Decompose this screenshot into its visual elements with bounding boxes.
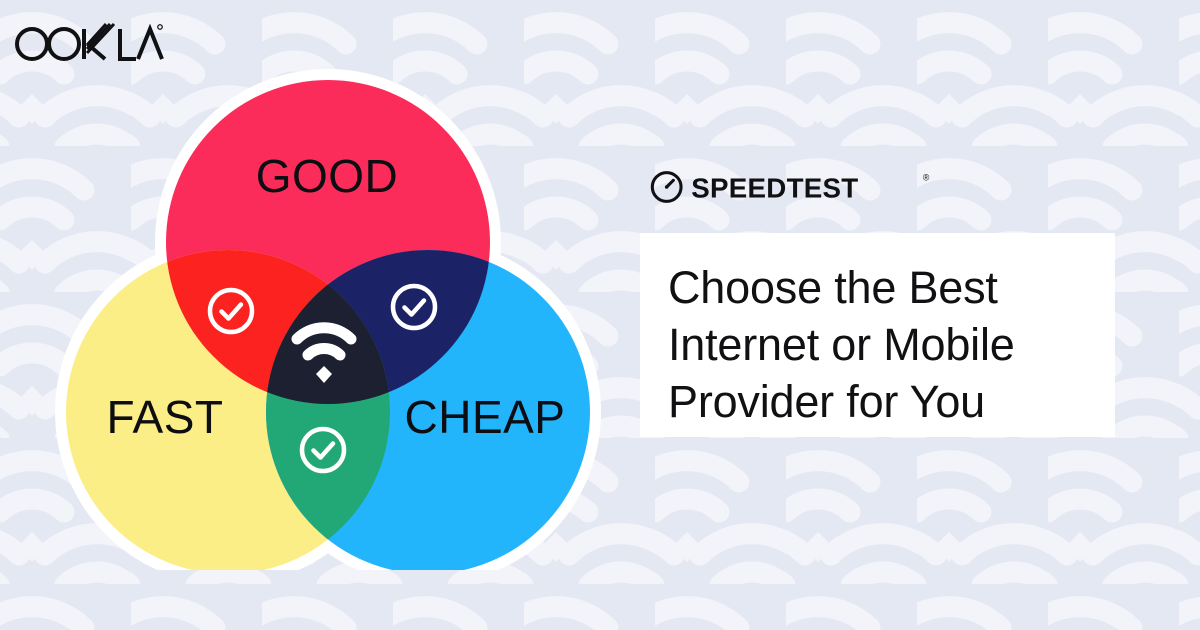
venn-diagram: GOOD FAST CHEAP [40, 60, 610, 570]
speedtest-logo: SPEEDTEST ® [648, 168, 938, 210]
speedtest-registered-mark: ® [923, 172, 930, 182]
headline-card: Choose the Best Internet or Mobile Provi… [640, 233, 1115, 437]
venn-label-cheap: CHEAP [405, 391, 566, 443]
venn-label-fast: FAST [106, 391, 223, 443]
venn-label-good: GOOD [256, 150, 399, 202]
speedtest-wordmark: SPEEDTEST [691, 172, 858, 203]
page-title: Choose the Best Internet or Mobile Provi… [668, 259, 1087, 430]
ookla-logo [14, 16, 164, 62]
poster-canvas: GOOD FAST CHEAP [0, 0, 1200, 630]
speedtest-brand-lockup: SPEEDTEST ® [640, 168, 1120, 210]
speedometer-icon [652, 173, 681, 202]
